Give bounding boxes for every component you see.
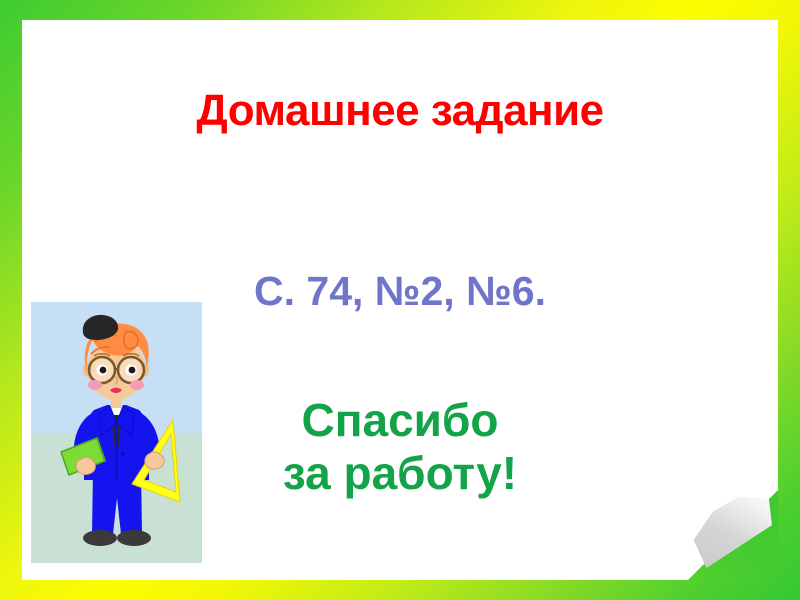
slide-frame: Домашнее задание С. 74, №2, №6. Спасибо … <box>0 0 800 600</box>
hand-right <box>145 452 164 469</box>
page-curl-fold <box>692 494 772 568</box>
schoolboy-illustration <box>31 302 202 563</box>
glasses-temple-left <box>89 368 90 369</box>
shoe-left <box>83 530 117 546</box>
cheek-left <box>88 380 102 390</box>
slide-card: Домашнее задание С. 74, №2, №6. Спасибо … <box>22 20 778 580</box>
jacket-button <box>121 452 125 456</box>
page-title: Домашнее задание <box>22 86 778 136</box>
cheek-right <box>130 380 144 390</box>
pupil-right <box>129 367 136 374</box>
hand-left <box>76 457 95 474</box>
page-curl-background <box>688 490 778 580</box>
shoe-right <box>117 530 151 546</box>
pupil-left <box>100 367 107 374</box>
